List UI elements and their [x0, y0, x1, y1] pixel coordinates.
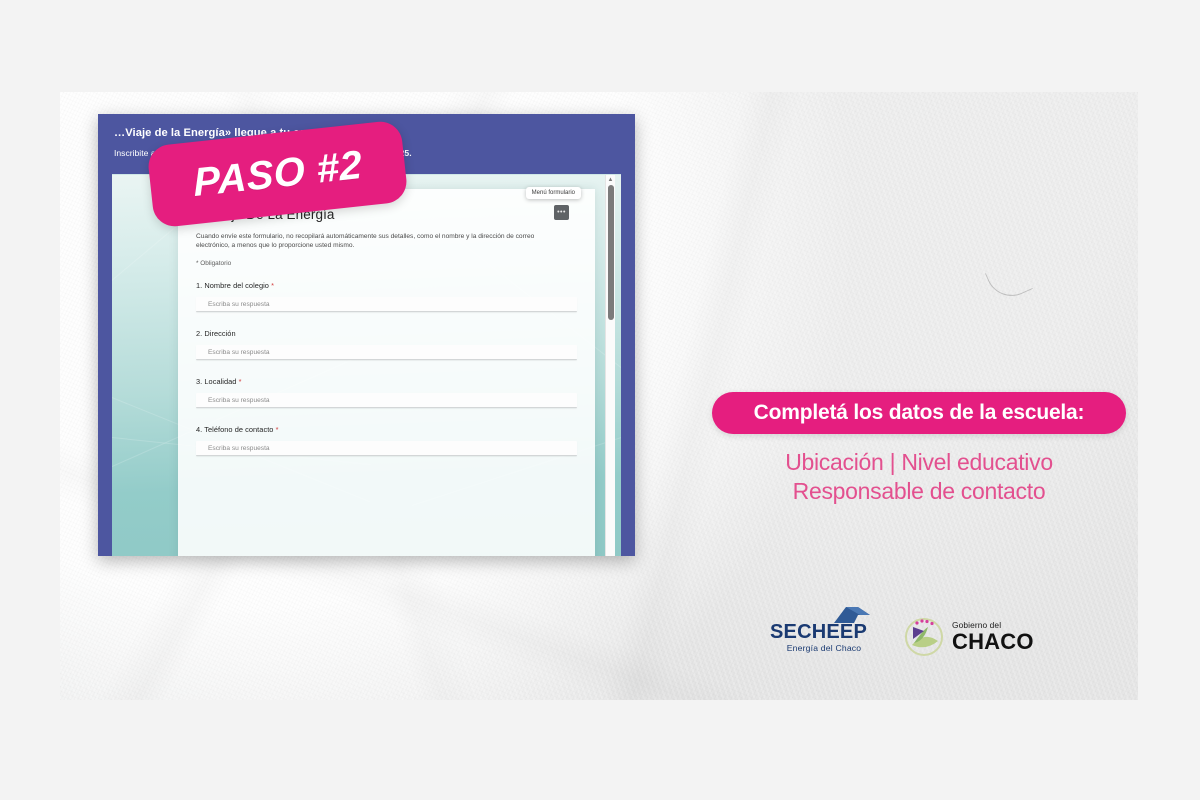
question-number: 4.: [196, 425, 202, 434]
secheep-mark-icon: [832, 605, 872, 625]
cta-banner-label: Completá los datos de la escuela:: [754, 401, 1085, 424]
required-asterisk: *: [239, 377, 242, 386]
scrollbar-thumb[interactable]: [608, 185, 614, 320]
question-text: Nombre del colegio: [204, 281, 269, 290]
right-panel: Completá los datos de la escuela: Ubicac…: [712, 392, 1126, 506]
question-label: 3. Localidad *: [196, 377, 577, 386]
secheep-tagline: Energía del Chaco: [770, 643, 878, 653]
question-number: 2.: [196, 329, 202, 338]
question-text: Teléfono de contacto: [204, 425, 273, 434]
form-card: El Viaje De La Energía Cuando envíe este…: [178, 189, 595, 556]
logo-row: SECHEEP Energía del Chaco Gobierno del C…: [770, 608, 1070, 666]
question-3-input[interactable]: [196, 393, 577, 408]
chaco-logo: Gobierno del CHACO: [904, 617, 1034, 657]
form-question: 3. Localidad *: [196, 377, 577, 408]
ellipsis-icon: •••: [557, 209, 566, 216]
chaco-wordmark: CHACO: [952, 631, 1034, 653]
chaco-wordmark-block: Gobierno del CHACO: [952, 621, 1034, 653]
form-menu-button[interactable]: •••: [554, 205, 569, 220]
question-number: 3.: [196, 377, 202, 386]
cta-detail-lines: Ubicación | Nivel educativo Responsable …: [712, 448, 1126, 506]
question-text: Dirección: [204, 329, 235, 338]
form-viewport: Menú formulario ••• ▲ El Viaje De La Ene…: [112, 174, 621, 556]
secheep-wordmark: SECHEEP: [770, 622, 878, 642]
chaco-pretitle: Gobierno del: [952, 621, 1034, 629]
required-asterisk: *: [276, 425, 279, 434]
cta-line-2: Responsable de contacto: [712, 477, 1126, 506]
chaco-mark-icon: [904, 617, 944, 657]
question-number: 1.: [196, 281, 202, 290]
cta-banner: Completá los datos de la escuela:: [712, 392, 1126, 434]
screenshot-canvas: …Viaje de la Energía» llegue a tu escuel…: [0, 0, 1200, 800]
form-menu-tooltip: Menú formulario: [526, 187, 581, 199]
form-question: 2. Dirección: [196, 329, 577, 360]
required-asterisk: *: [271, 281, 274, 290]
question-text: Localidad: [204, 377, 236, 386]
question-label: 2. Dirección: [196, 329, 577, 338]
form-question: 1. Nombre del colegio *: [196, 281, 577, 312]
question-2-input[interactable]: [196, 345, 577, 360]
step-badge-label: PASO #2: [192, 142, 363, 205]
form-question: 4. Teléfono de contacto *: [196, 425, 577, 456]
question-1-input[interactable]: [196, 297, 577, 312]
question-label: 4. Teléfono de contacto *: [196, 425, 577, 434]
form-required-note: * Obligatorio: [196, 260, 577, 267]
cta-line-1: Ubicación | Nivel educativo: [712, 448, 1126, 477]
secheep-logo: SECHEEP Energía del Chaco: [770, 622, 878, 653]
paper-crinkle-decoration: [985, 258, 1034, 305]
form-scrollbar[interactable]: ▲: [605, 175, 615, 556]
question-label: 1. Nombre del colegio *: [196, 281, 577, 290]
scroll-up-arrow-icon[interactable]: ▲: [607, 177, 614, 183]
form-description: Cuando envíe este formulario, no recopil…: [196, 232, 562, 250]
question-4-input[interactable]: [196, 441, 577, 456]
